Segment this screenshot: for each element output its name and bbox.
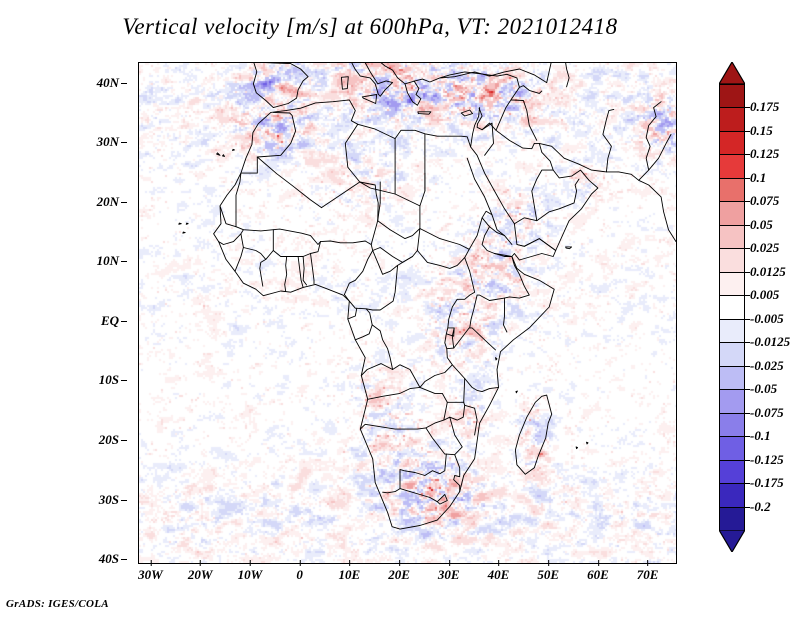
colorbar: 0.1750.150.1250.10.0750.050.0250.01250.0… <box>719 62 745 552</box>
tick-mark <box>349 560 350 566</box>
latitude-tick-10N: 10N <box>97 253 119 269</box>
map-boundary-path <box>322 124 360 207</box>
colorbar-swatch <box>719 319 745 343</box>
colorbar-swatch <box>719 483 745 507</box>
map-boundary-path <box>639 134 671 180</box>
tick-mark <box>150 560 151 566</box>
tick-mark <box>121 500 127 501</box>
map-boundary-path <box>220 173 241 227</box>
tick-mark <box>250 560 251 566</box>
colorbar-label: 0.075 <box>750 193 779 209</box>
tick-mark <box>300 560 301 566</box>
map-boundary-path <box>236 227 321 245</box>
colorbar-swatch <box>719 366 745 390</box>
map-boundary-path <box>467 158 512 244</box>
colorbar-label: -0.0125 <box>750 334 790 350</box>
map-boundary-path <box>566 247 572 249</box>
map-boundary-path <box>243 248 265 260</box>
longitude-tick-0: 0 <box>296 567 303 583</box>
map-boundary-path <box>311 254 315 284</box>
map-boundary-path <box>417 251 464 269</box>
map-boundary-path <box>360 182 420 229</box>
map-boundary-path <box>383 428 447 493</box>
tick-mark <box>121 261 127 262</box>
tick-mark <box>399 560 400 566</box>
map-boundary-path <box>362 95 376 104</box>
attribution-footer: GrADS: IGES/COLA <box>6 598 109 610</box>
colorbar-label: -0.075 <box>750 405 784 421</box>
colorbar-tick <box>745 272 750 273</box>
longitude-tick-40E: 40E <box>488 567 510 583</box>
colorbar-tick <box>745 366 750 367</box>
tick-mark <box>121 202 127 203</box>
tick-mark <box>200 560 201 566</box>
colorbar-label: -0.005 <box>750 311 784 327</box>
tick-mark <box>121 440 127 441</box>
map-boundary-path <box>344 265 397 310</box>
colorbar-tick <box>745 248 750 249</box>
colorbar-label: 0.15 <box>750 123 773 139</box>
map-plot-frame <box>138 62 677 564</box>
colorbar-tick <box>745 131 750 132</box>
map-boundary-path <box>298 257 303 288</box>
map-boundary-path <box>495 254 530 299</box>
map-boundaries-overlay <box>139 63 676 563</box>
map-boundary-path <box>303 257 307 286</box>
map-boundary-path <box>183 232 185 233</box>
map-boundary-path <box>285 257 287 292</box>
map-boundary-path <box>464 379 465 403</box>
map-boundary-path <box>482 227 512 257</box>
latitude-tick-20N: 20N <box>97 194 119 210</box>
map-boundary-path <box>344 245 372 295</box>
tick-mark <box>121 321 127 322</box>
map-boundary-path <box>461 110 472 116</box>
map-boundary-path <box>273 242 320 257</box>
map-boundary-path <box>400 489 437 502</box>
colorbar-label: 0.1 <box>750 170 766 186</box>
colorbar-label: 0.125 <box>750 146 779 162</box>
colorbar-label: 0.005 <box>750 287 779 303</box>
map-boundary-path <box>454 328 496 350</box>
map-boundary-path <box>338 63 547 84</box>
colorbar-label: -0.175 <box>750 475 784 491</box>
colorbar-label: -0.025 <box>750 358 784 374</box>
map-boundary-path <box>341 77 348 90</box>
colorbar-tick <box>745 342 750 343</box>
tick-mark <box>121 380 127 381</box>
colorbar-tick <box>745 107 750 108</box>
page-title: Vertical velocity [m/s] at 600hPa, VT: 2… <box>0 14 740 40</box>
colorbar-tick <box>745 178 750 179</box>
latitude-tick-20S: 20S <box>99 432 119 448</box>
latitude-tick-10S: 10S <box>99 372 119 388</box>
longitude-tick-60E: 60E <box>587 567 609 583</box>
map-boundary-path <box>378 221 420 239</box>
map-boundary-path <box>260 230 274 287</box>
map-boundary-path <box>603 109 614 171</box>
colorbar-swatch <box>719 107 745 131</box>
longitude-tick-30W: 30W <box>138 567 163 583</box>
colorbar-label: -0.05 <box>750 381 777 397</box>
map-boundary-path <box>447 402 477 435</box>
map-boundary-path <box>253 63 308 108</box>
map-boundary-path <box>348 308 357 319</box>
colorbar-tick <box>745 295 750 296</box>
colorbar-swatch <box>719 295 745 319</box>
map-boundary-path <box>517 143 598 250</box>
map-boundary-path <box>257 157 321 208</box>
map-boundary-path <box>646 102 661 170</box>
colorbar-swatch <box>719 178 745 202</box>
colorbar-swatch <box>719 436 745 460</box>
map-boundary-path <box>465 211 492 292</box>
colorbar-swatch <box>719 413 745 437</box>
longitude-tick-30E: 30E <box>438 567 460 583</box>
colorbar-swatch <box>719 272 745 296</box>
colorbar-swatch <box>719 460 745 484</box>
colorbar-label: -0.1 <box>750 428 771 444</box>
map-boundary-path <box>373 251 413 275</box>
tick-mark <box>121 83 127 84</box>
colorbar-tick <box>745 507 750 508</box>
map-boundary-path <box>361 364 420 400</box>
tick-mark <box>121 559 127 560</box>
colorbar-tick <box>745 154 750 155</box>
colorbar-tick <box>745 483 750 484</box>
map-boundary-path <box>516 391 518 393</box>
map-boundary-path <box>219 230 244 245</box>
colorbar-tick <box>745 319 750 320</box>
longitude-tick-10E: 10E <box>338 567 360 583</box>
map-boundary-path <box>360 387 447 429</box>
colorbar-swatch <box>719 248 745 272</box>
colorbar-tick <box>745 389 750 390</box>
map-boundary-path <box>496 100 537 140</box>
map-boundary-path <box>576 447 578 449</box>
colorbar-extend-bottom <box>719 530 745 552</box>
colorbar-tick <box>745 201 750 202</box>
longitude-tick-70E: 70E <box>637 567 659 583</box>
map-boundary-path <box>515 395 551 474</box>
colorbar-swatch <box>719 507 745 531</box>
colorbar-swatch <box>719 84 745 108</box>
tick-mark <box>498 560 499 566</box>
latitude-tick-40S: 40S <box>99 551 119 567</box>
colorbar-tick <box>745 436 750 437</box>
colorbar-swatch <box>719 201 745 225</box>
map-boundary-path <box>217 153 220 155</box>
map-boundary-path <box>186 223 188 224</box>
map-boundary-path <box>321 241 372 245</box>
map-boundary-path <box>450 417 462 455</box>
map-boundary-path <box>420 292 475 387</box>
map-boundary-path <box>418 112 431 114</box>
map-boundary-path <box>532 170 553 221</box>
tick-mark <box>449 560 450 566</box>
colorbar-swatch <box>719 342 745 366</box>
colorbar-label: -0.2 <box>750 499 771 515</box>
map-boundary-path <box>511 86 542 100</box>
latitude-tick-EQ: EQ <box>101 313 119 329</box>
latitude-tick-30S: 30S <box>99 492 119 508</box>
map-boundary-path <box>444 405 465 420</box>
longitude-tick-20E: 20E <box>388 567 410 583</box>
map-boundary-path <box>371 203 380 245</box>
tick-mark <box>598 560 599 566</box>
map-boundary-path <box>547 63 557 83</box>
map-boundary-path <box>452 365 498 392</box>
longitude-tick-50E: 50E <box>537 567 559 583</box>
colorbar-swatch <box>719 154 745 178</box>
map-boundary-path <box>223 155 225 157</box>
map-boundary-path <box>447 328 454 349</box>
colorbar-extend-top <box>719 62 745 84</box>
colorbar-swatch <box>719 225 745 249</box>
tick-mark <box>121 142 127 143</box>
map-boundary-path <box>420 134 425 206</box>
tick-mark <box>548 560 549 566</box>
map-boundary-path <box>437 495 447 505</box>
colorbar-label: -0.125 <box>750 452 784 468</box>
map-boundary-path <box>350 63 392 96</box>
map-boundary-path <box>179 223 182 224</box>
colorbar-tick <box>745 225 750 226</box>
map-boundary-path <box>405 81 421 105</box>
map-boundary-path <box>564 63 569 87</box>
tick-mark <box>648 560 649 566</box>
map-boundary-path <box>372 325 392 370</box>
map-boundary-path <box>507 74 520 87</box>
map-boundary-path <box>514 179 579 224</box>
latitude-tick-30N: 30N <box>97 134 119 150</box>
colorbar-swatch <box>719 389 745 413</box>
latitude-tick-40N: 40N <box>97 75 119 91</box>
colorbar-swatch <box>719 131 745 155</box>
map-boundary-path <box>587 442 589 444</box>
colorbar-label: 0.05 <box>750 217 773 233</box>
colorbar-tick <box>745 460 750 461</box>
colorbar-label: 0.025 <box>750 240 779 256</box>
map-boundary-path <box>355 309 372 340</box>
colorbar-label: 0.175 <box>750 99 779 115</box>
map-boundary-path <box>470 295 507 332</box>
map-boundary-path <box>446 454 459 492</box>
map-boundary-path <box>496 358 498 360</box>
map-boundary-path <box>233 149 235 150</box>
map-boundary-path <box>420 229 469 250</box>
colorbar-tick <box>745 413 750 414</box>
map-boundary-path <box>235 234 243 271</box>
longitude-tick-20W: 20W <box>188 567 213 583</box>
colorbar-label: 0.0125 <box>750 264 786 280</box>
longitude-tick-10W: 10W <box>238 567 263 583</box>
